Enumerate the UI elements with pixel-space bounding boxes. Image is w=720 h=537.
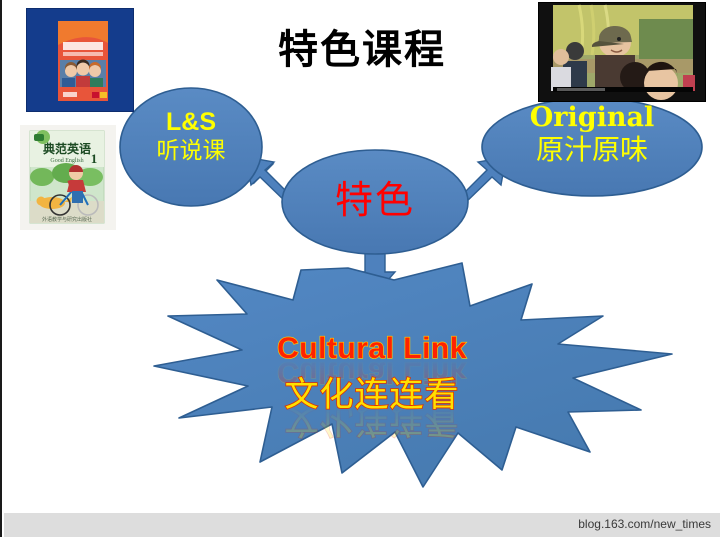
svg-text:典范英语: 典范英语	[43, 141, 91, 156]
right-ellipse	[482, 98, 702, 196]
slide-canvas: 特色课程	[0, 0, 720, 537]
textbook-cover-image-top	[26, 8, 134, 112]
starburst-shape	[154, 263, 672, 487]
textbook-cover-image-bottom: 典范英语 Good English 1 外语教学与研究出版社	[20, 125, 116, 230]
svg-text:外语教学与研究出版社: 外语教学与研究出版社	[42, 216, 92, 223]
center-ellipse	[282, 150, 468, 254]
watermark-text: blog.163.com/new_times	[578, 517, 711, 531]
classroom-photo-image	[538, 2, 706, 102]
left-ellipse	[120, 88, 262, 206]
svg-text:1: 1	[91, 151, 98, 166]
